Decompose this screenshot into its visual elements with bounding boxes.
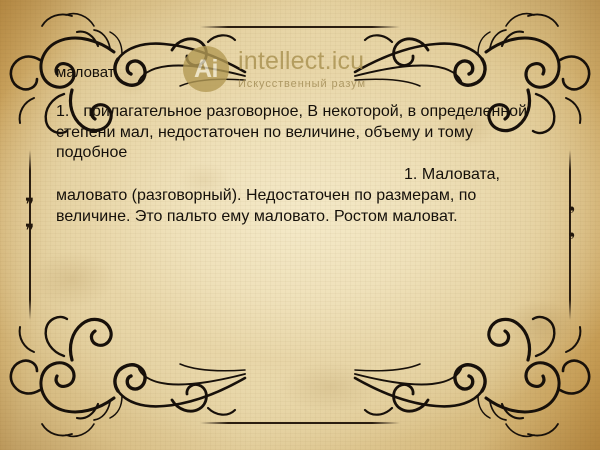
headword: маловат [56,64,548,83]
subsense-number: 1. Маловата, [56,164,548,185]
comma-flourish-icon: ❞ [25,196,34,213]
sense-entry: 1.прилагательное разговорное, В некоторо… [56,102,548,164]
subsense-text: маловато (разговорный). Недостаточен по … [56,187,476,225]
parchment-page: ❞ ❞ ❟ ❟ [0,0,600,450]
comma-flourish-icon: ❟ [568,222,575,239]
corner-flourish-bottom-left [2,313,247,448]
dictionary-article: маловат 1.прилагательное разговорное, В … [56,64,548,227]
sense-number: 1. [56,103,69,120]
comma-flourish-icon: ❟ [568,196,575,213]
sense-text: прилагательное разговорное, В некоторой,… [56,103,527,162]
comma-flourish-icon: ❞ [25,222,34,239]
subsense-entry: 1. Маловата,маловато (разговорный). Недо… [56,164,548,227]
corner-flourish-bottom-right [353,313,598,448]
